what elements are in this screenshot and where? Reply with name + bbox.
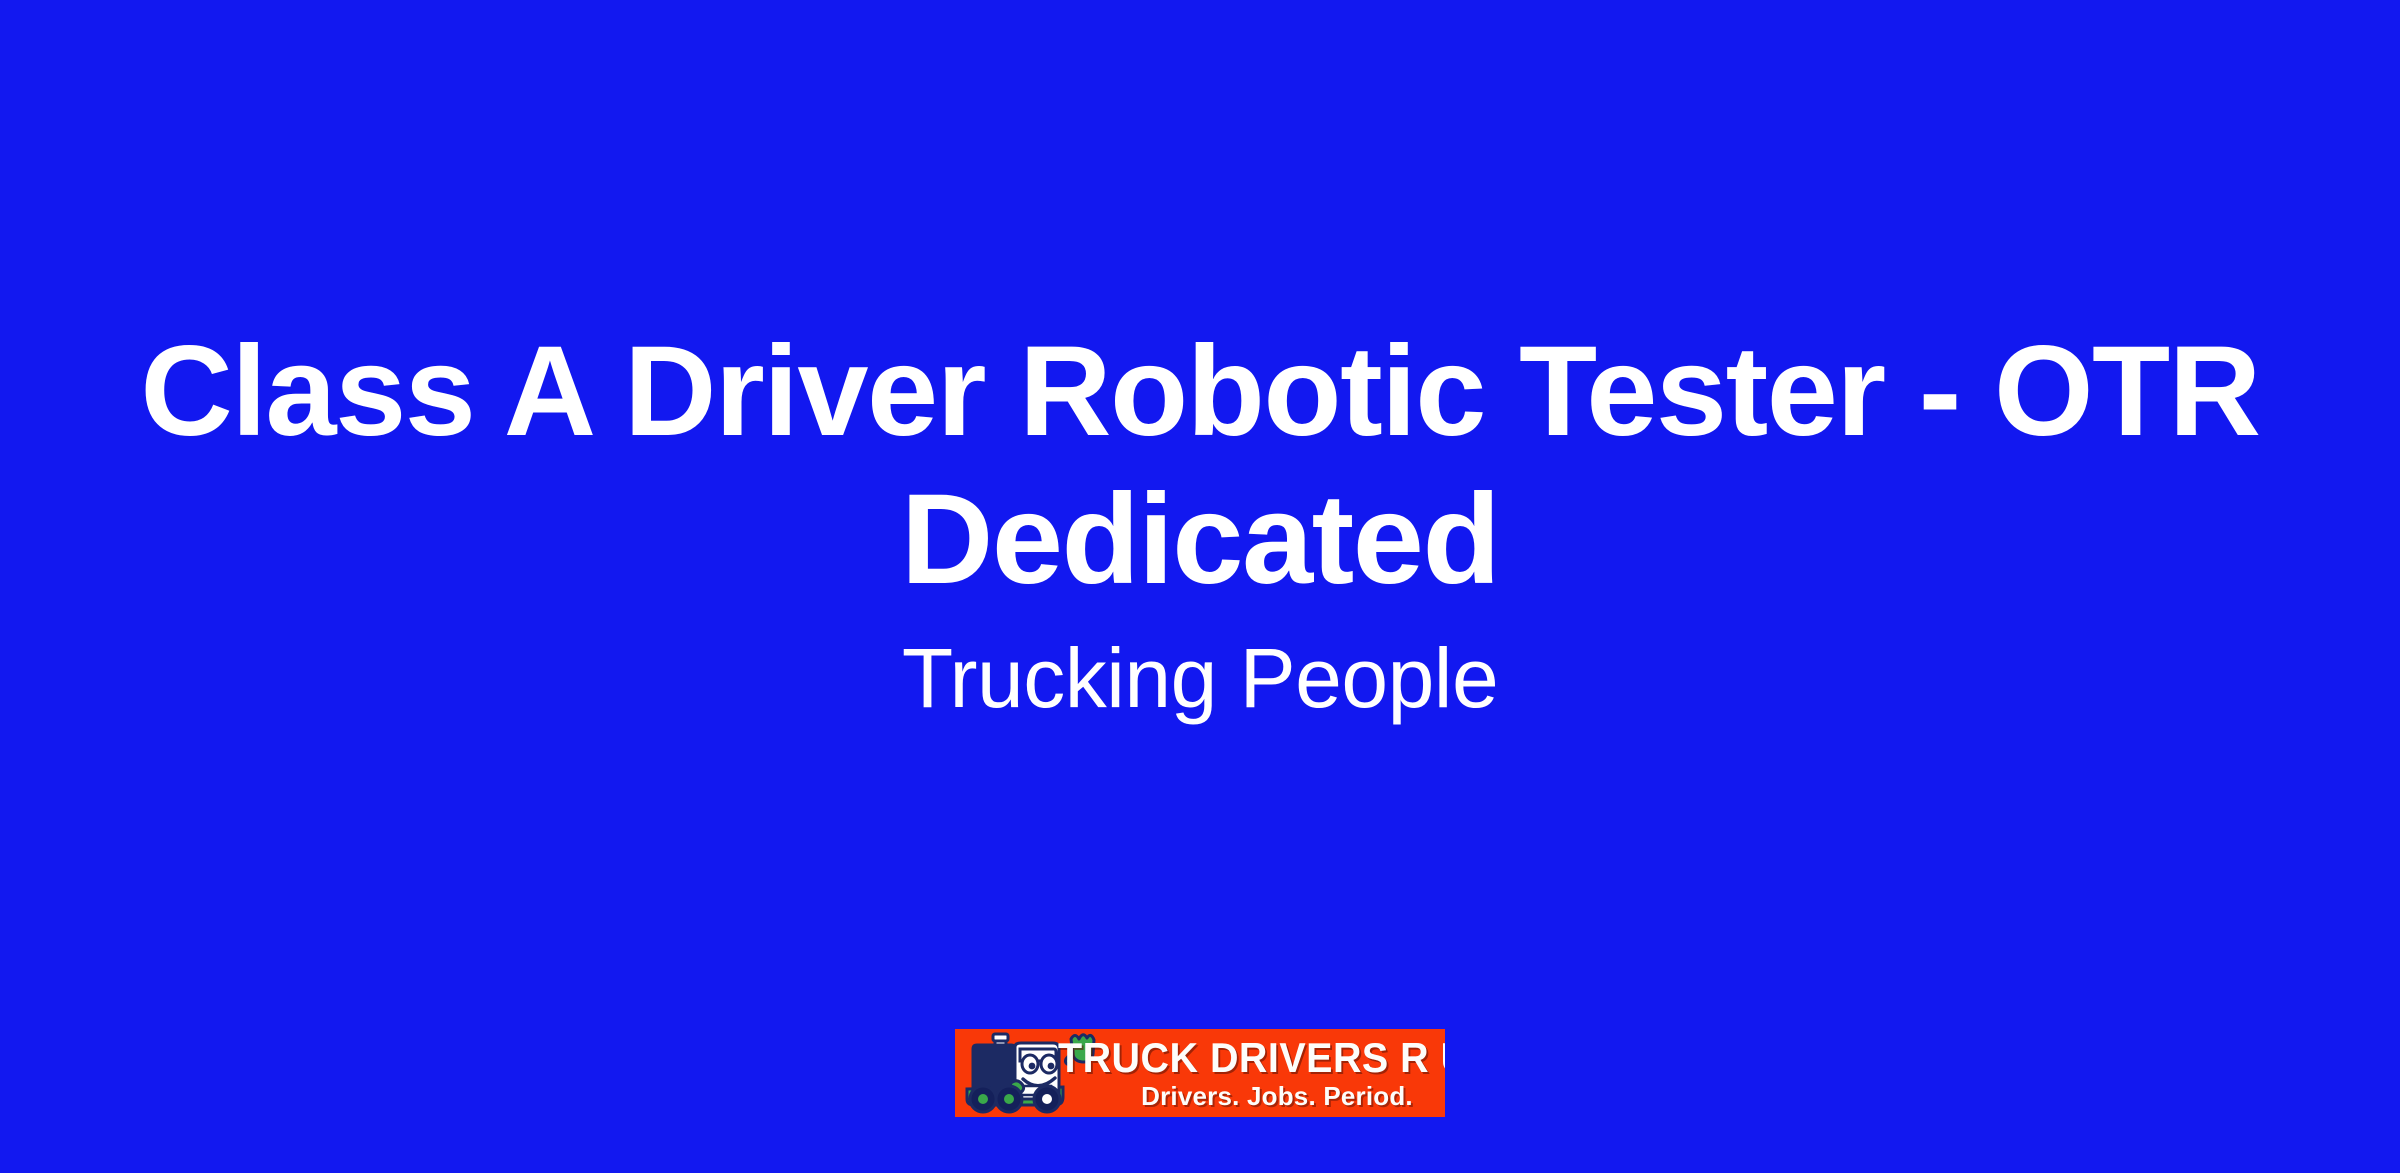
logo-text-stack: TRUCK DRIVERS R US Drivers. Jobs. Period… [1113, 1029, 1441, 1117]
company-logo[interactable]: TRUCK DRIVERS R US Drivers. Jobs. Period… [955, 1029, 1445, 1117]
logo-banner: TRUCK DRIVERS R US Drivers. Jobs. Period… [955, 1029, 1445, 1117]
company-name: Trucking People [120, 626, 2280, 730]
job-title: Class A Driver Robotic Tester - OTR Dedi… [120, 318, 2280, 614]
logo-headline: TRUCK DRIVERS R US [1058, 1036, 1445, 1080]
logo-tagline: Drivers. Jobs. Period. [1141, 1081, 1413, 1111]
job-posting-card: Class A Driver Robotic Tester - OTR Dedi… [0, 0, 2400, 1173]
job-posting-text-block: Class A Driver Robotic Tester - OTR Dedi… [0, 318, 2400, 730]
